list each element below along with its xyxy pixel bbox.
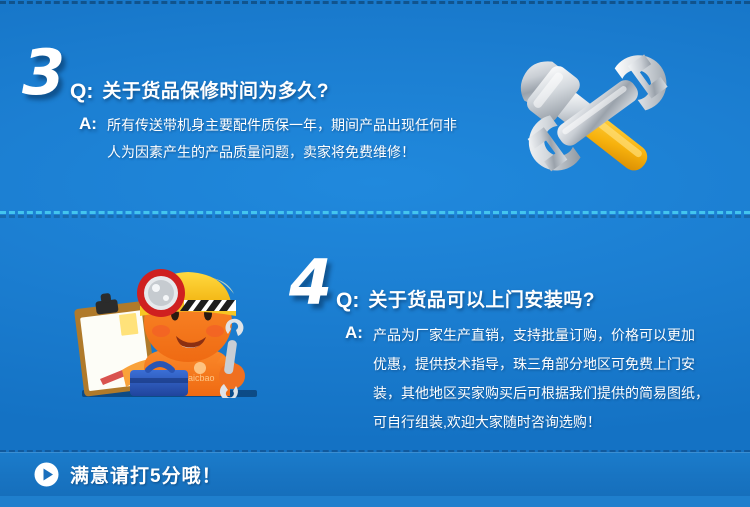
faq-4-answer-line: 可自行组装,欢迎大家随时咨询选购！ [373, 408, 709, 437]
faq-4-question-row: Q: 关于货品可以上门安装吗? [336, 288, 709, 314]
faq-4-a-label: A: [336, 321, 363, 345]
faq-3-question-row: Q: 关于货品保修时间为多久? [70, 79, 457, 105]
faq-item-4: Q: 关于货品可以上门安装吗? A: 产品为厂家生产直销，支持批量订购，价格可以… [336, 288, 709, 437]
faq-item-3: Q: 关于货品保修时间为多久? A: 所有传送带机身主要配件质保一年，期间产品出… [70, 79, 457, 166]
top-dashed-divider [0, 1, 750, 4]
play-circle-icon [34, 462, 59, 487]
worker-mascot-icon: aicbao [60, 248, 275, 398]
faq-3-question-text: 关于货品保修时间为多久? [102, 79, 329, 105]
rating-banner-text: 满意请打5分哦！ [70, 461, 222, 488]
faq-4-answer-line: 装，其他地区买家购买后可根据我们提供的简易图纸， [373, 379, 709, 408]
faq-4-question-text: 关于货品可以上门安装吗? [368, 288, 595, 314]
section-divider [0, 211, 750, 214]
banner-underline-strip [0, 496, 750, 507]
faq-number-4: 4 [289, 252, 331, 314]
faq-promo-page: 3 Q: 关于货品保修时间为多久? A: 所有传送带机身主要配件质保一年，期间产… [0, 0, 750, 507]
svg-text:aicbao: aicbao [188, 373, 215, 383]
faq-4-answer-text: 产品为厂家生产直销，支持批量订购，价格可以更加 优惠，提供技术指导，珠三角部分地… [373, 321, 709, 437]
faq-3-answer-text: 所有传送带机身主要配件质保一年，期间产品出现任何非 人为因素产生的产品质量问题，… [107, 112, 457, 166]
faq-4-answer-line: 优惠，提供技术指导，珠三角部分地区可免费上门安 [373, 350, 709, 379]
faq-3-q-label: Q: [70, 79, 93, 105]
faq-4-q-label: Q: [336, 288, 359, 314]
rating-banner: 满意请打5分哦！ [0, 452, 750, 496]
faq-4-answer-line: 产品为厂家生产直销，支持批量订购，价格可以更加 [373, 321, 709, 350]
faq-3-answer-line: 人为因素产生的产品质量问题，卖家将免费维修！ [107, 139, 457, 166]
faq-3-answer-line: 所有传送带机身主要配件质保一年，期间产品出现任何非 [107, 112, 457, 139]
faq-4-answer-row: A: 产品为厂家生产直销，支持批量订购，价格可以更加 优惠，提供技术指导，珠三角… [336, 321, 709, 437]
faq-3-answer-row: A: 所有传送带机身主要配件质保一年，期间产品出现任何非 人为因素产生的产品质量… [70, 112, 457, 166]
section-divider-shadow [0, 215, 750, 218]
faq-3-a-label: A: [70, 112, 97, 136]
hammer-wrench-icon [498, 40, 688, 190]
faq-number-3: 3 [22, 42, 64, 104]
